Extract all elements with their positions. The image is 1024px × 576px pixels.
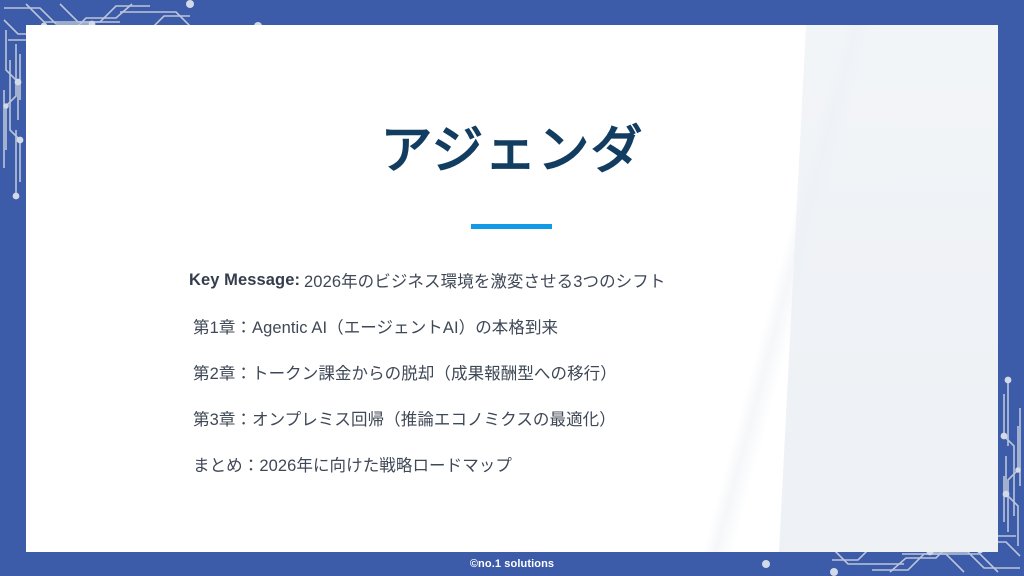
slide-content-card: アジェンダ Key Message: 2026年のビジネス環境を激変させる3つの… [26,25,998,552]
list-item: 第3章：オンプレミス回帰（推論エコノミクスの最適化） [189,395,889,441]
agenda-item-body: 第2章：トークン課金からの脱却（成果報酬型への移行） [193,360,617,384]
page-title: アジェンダ [26,122,998,180]
agenda-item-lead: Key Message: [189,271,300,290]
agenda-item-body: 第3章：オンプレミス回帰（推論エコノミクスの最適化） [193,406,616,430]
agenda-item-body: 第1章：Agentic AI（エージェントAI）の本格到来 [193,314,558,338]
slide-root: アジェンダ Key Message: 2026年のビジネス環境を激変させる3つの… [0,0,1024,576]
list-item: まとめ：2026年に向けた戦略ロードマップ [189,441,889,487]
slide-footer-copyright: ©no.1 solutions [0,558,1024,570]
agenda-item-body: まとめ：2026年に向けた戦略ロードマップ [193,452,512,476]
list-item: 第1章：Agentic AI（エージェントAI）の本格到来 [189,303,889,349]
list-item: 第2章：トークン課金からの脱却（成果報酬型への移行） [189,349,889,395]
agenda-item-body: 2026年のビジネス環境を激変させる3つのシフト [304,268,665,292]
title-accent-bar [471,224,552,229]
list-item: Key Message: 2026年のビジネス環境を激変させる3つのシフト [189,257,889,303]
agenda-list: Key Message: 2026年のビジネス環境を激変させる3つのシフト 第1… [189,257,889,487]
